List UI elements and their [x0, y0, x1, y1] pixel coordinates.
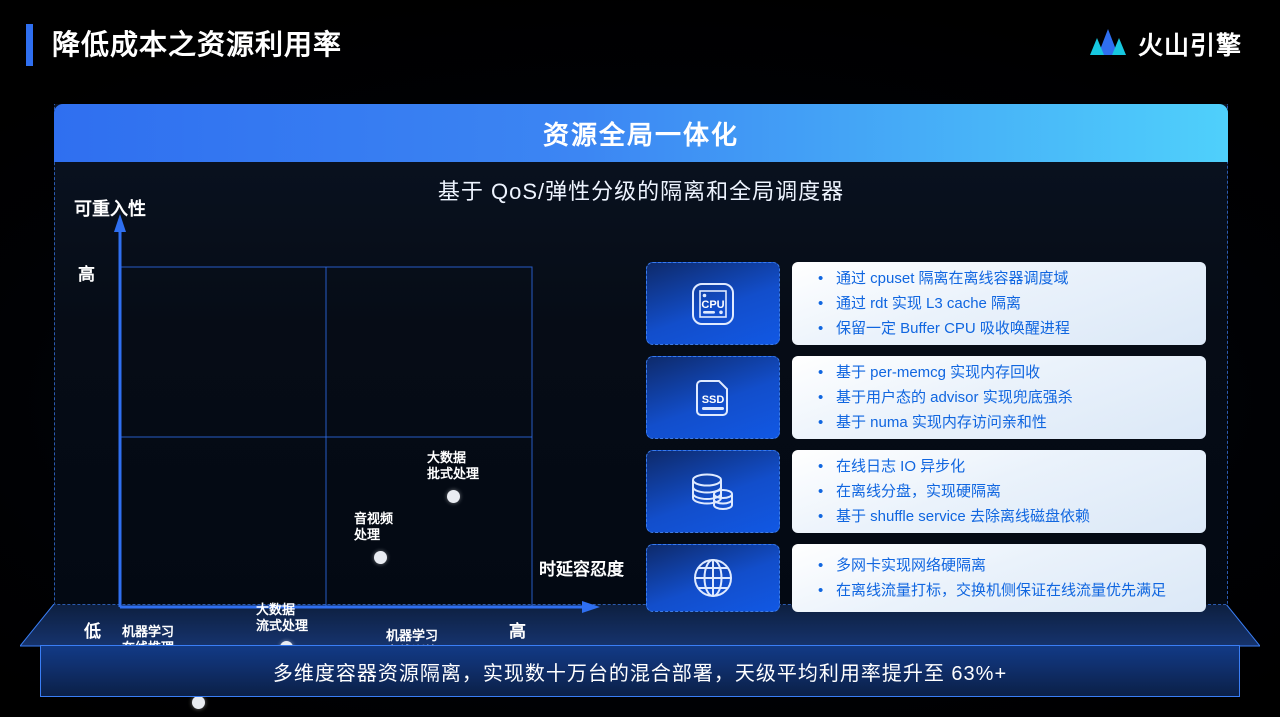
feature-row-cpu: CPU 通过 cpuset 隔离在离线容器调度域 通过 rdt 实现 L3 ca…	[646, 262, 1206, 345]
svg-text:CPU: CPU	[701, 299, 724, 311]
ssd-icon: SSD	[687, 372, 739, 424]
globe-icon-box	[646, 544, 780, 612]
cpu-bullet-box: 通过 cpuset 隔离在离线容器调度域 通过 rdt 实现 L3 cache …	[792, 262, 1206, 345]
bullet-item: 通过 rdt 实现 L3 cache 隔离	[818, 291, 1192, 316]
bullet-item: 基于 shuffle service 去除离线磁盘依赖	[818, 504, 1192, 529]
bullet-item: 在离线分盘，实现硬隔离	[818, 479, 1192, 504]
ssd-icon-box: SSD	[646, 356, 780, 439]
footer-summary-bar: 多维度容器资源隔离，实现数十万台的混合部署，天级平均利用率提升至 63%+	[40, 645, 1240, 697]
globe-icon	[687, 552, 739, 604]
data-point	[374, 551, 387, 564]
brand-logo: 火山引擎	[1089, 26, 1242, 62]
data-point-label: 音视频 处理	[354, 511, 393, 543]
bullet-item: 多网卡实现网络硬隔离	[818, 553, 1192, 578]
bullet-item: 保留一定 Buffer CPU 吸收唤醒进程	[818, 316, 1192, 341]
database-stack-icon	[685, 466, 741, 518]
disk-bullet-box: 在线日志 IO 异步化 在离线分盘，实现硬隔离 基于 shuffle servi…	[792, 450, 1206, 533]
chart-axes-svg	[54, 162, 654, 632]
network-bullet-box: 多网卡实现网络硬隔离 在离线流量打标，交换机侧保证在线流量优先满足	[792, 544, 1206, 612]
bullet-item: 基于 per-memcg 实现内存回收	[818, 360, 1192, 385]
feature-list: CPU 通过 cpuset 隔离在离线容器调度域 通过 rdt 实现 L3 ca…	[646, 262, 1206, 610]
data-point-label: 大数据 批式处理	[427, 450, 479, 482]
slide-header: 降低成本之资源利用率 火山引擎	[0, 0, 1280, 92]
cpu-icon-box: CPU	[646, 262, 780, 345]
data-point-label: 大数据 流式处理	[256, 602, 308, 634]
bullet-item: 在离线流量打标，交换机侧保证在线流量优先满足	[818, 578, 1192, 603]
bullet-item: 基于用户态的 advisor 实现兜底强杀	[818, 385, 1192, 410]
data-point	[192, 696, 205, 709]
cpu-icon: CPU	[687, 278, 739, 330]
title-accent-bar	[26, 24, 33, 66]
bullet-item: 在线日志 IO 异步化	[818, 454, 1192, 479]
brand-name: 火山引擎	[1138, 26, 1242, 62]
svg-text:SSD: SSD	[702, 394, 725, 406]
footer-summary-text: 多维度容器资源隔离，实现数十万台的混合部署，天级平均利用率提升至 63%+	[273, 657, 1007, 686]
panel-banner: 资源全局一体化	[54, 104, 1228, 162]
slide-root: 降低成本之资源利用率 火山引擎	[0, 0, 1280, 717]
feature-row-network: 多网卡实现网络硬隔离 在离线流量打标，交换机侧保证在线流量优先满足	[646, 544, 1206, 612]
data-point	[447, 490, 460, 503]
database-icon-box	[646, 450, 780, 533]
ssd-bullet-box: 基于 per-memcg 实现内存回收 基于用户态的 advisor 实现兜底强…	[792, 356, 1206, 439]
panel-banner-title: 资源全局一体化	[543, 115, 739, 152]
feature-row-ssd: SSD 基于 per-memcg 实现内存回收 基于用户态的 advisor 实…	[646, 356, 1206, 439]
bullet-item: 基于 numa 实现内存访问亲和性	[818, 410, 1192, 435]
page-title: 降低成本之资源利用率	[52, 25, 342, 65]
feature-row-disk: 在线日志 IO 异步化 在离线分盘，实现硬隔离 基于 shuffle servi…	[646, 450, 1206, 533]
bullet-item: 通过 cpuset 隔离在离线容器调度域	[818, 266, 1192, 291]
volcano-mountain-icon	[1089, 27, 1127, 62]
quadrant-scatter-chart: 可重入性 时延容忍度 高 低 高 大数据 批式处理 音视频 处理 大数据 流式处…	[54, 162, 654, 652]
